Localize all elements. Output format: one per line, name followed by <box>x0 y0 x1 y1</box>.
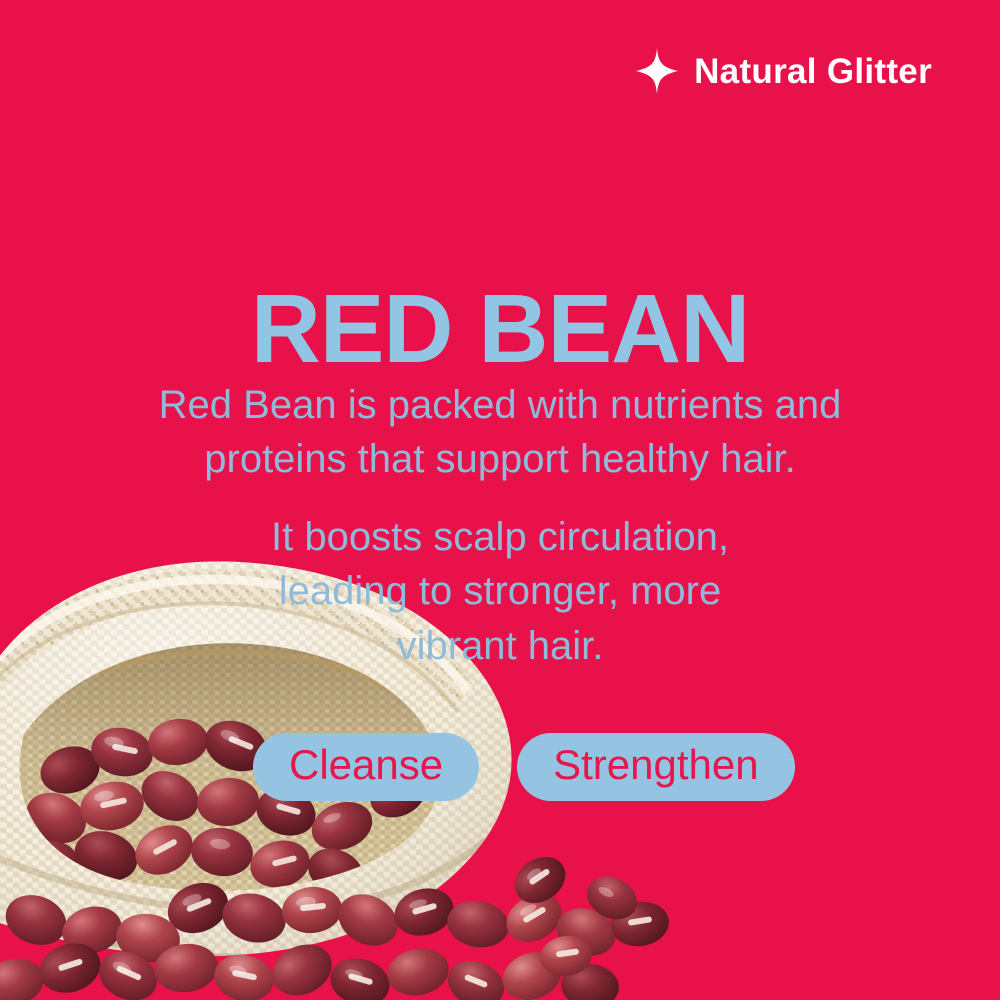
spilled-beans <box>0 847 672 1000</box>
benefit-badge-cleanse[interactable]: Cleanse <box>253 733 479 801</box>
description-line: proteins that support healthy hair. <box>0 432 1000 486</box>
brand-lockup: Natural Glitter <box>636 48 932 94</box>
description-paragraph-1: Red Bean is packed with nutrients and pr… <box>0 378 1000 487</box>
description-line: vibrant hair. <box>0 619 1000 673</box>
page-title: RED BEAN <box>0 278 1000 380</box>
description-line: Red Bean is packed with nutrients and <box>0 378 1000 432</box>
product-ingredient-poster: Natural Glitter RED BEAN Red Bean is pac… <box>0 0 1000 1000</box>
description-paragraph-2: It boosts scalp circulation, leading to … <box>0 510 1000 673</box>
benefit-badge-group: Cleanse Strengthen <box>253 733 795 801</box>
benefit-badge-strengthen[interactable]: Strengthen <box>517 733 795 801</box>
description-line: It boosts scalp circulation, <box>0 510 1000 564</box>
brand-name: Natural Glitter <box>694 54 932 89</box>
description-line: leading to stronger, more <box>0 564 1000 618</box>
sparkle-icon <box>636 48 678 94</box>
